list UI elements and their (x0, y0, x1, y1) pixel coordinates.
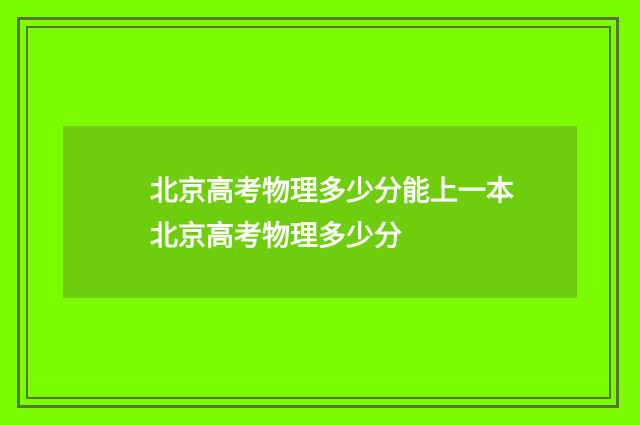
headline-text: 北京高考物理多少分能上一本 北京高考物理多少分 (150, 168, 520, 258)
image-canvas: 北京高考物理多少分能上一本 北京高考物理多少分 (0, 0, 640, 425)
